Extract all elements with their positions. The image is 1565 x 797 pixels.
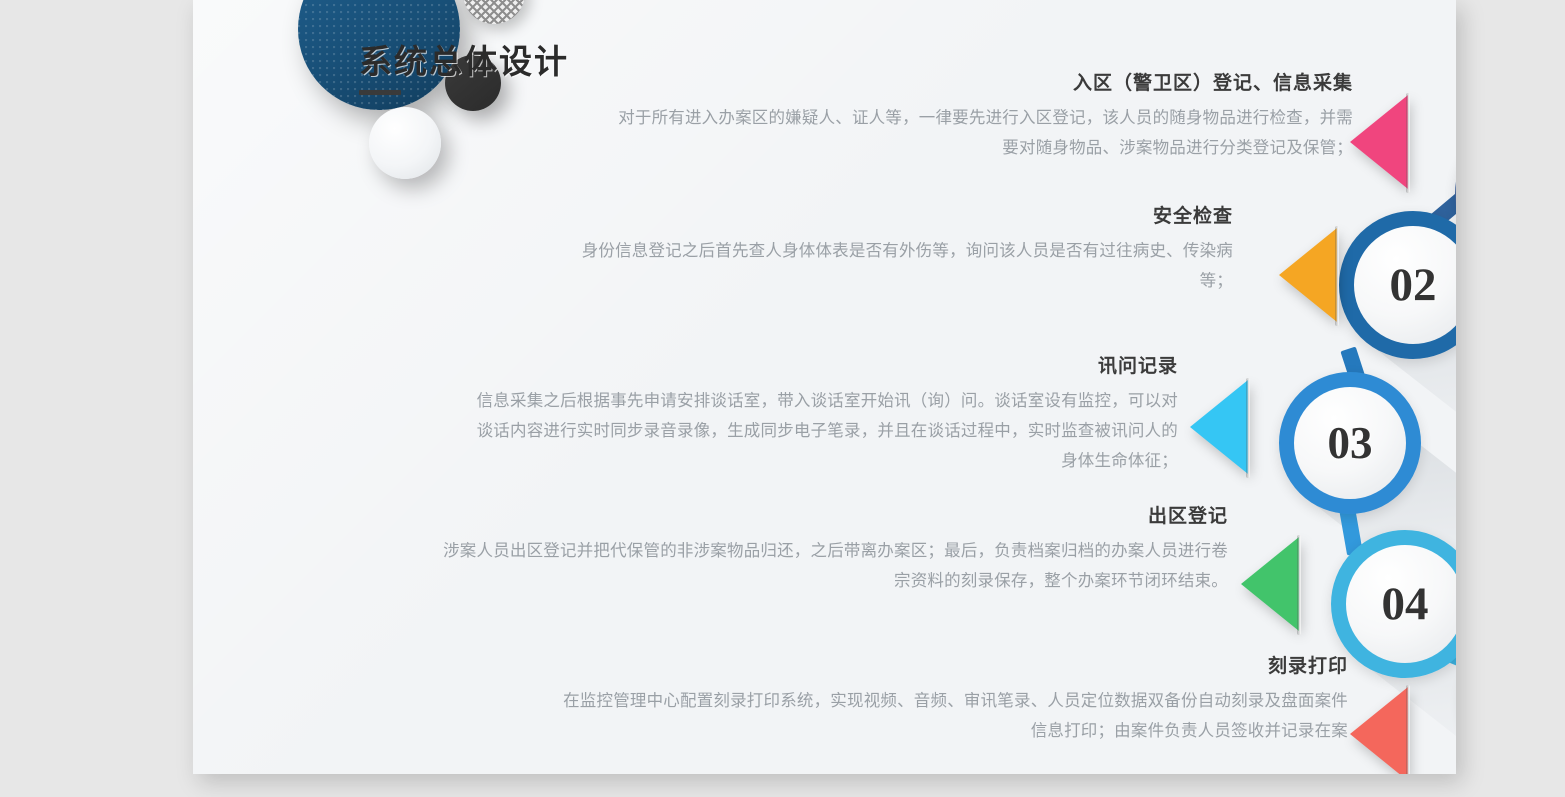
step-block-02: 安全检查 身份信息登记之后首先查人身体体表是否有外伤等，询问该人员是否有过往病史… [553, 205, 1233, 296]
triangle-left-icon [1241, 537, 1299, 631]
step-body-01: 对于所有进入办案区的嫌疑人、证人等，一律要先进行入区登记，该人员的随身物品进行检… [613, 103, 1353, 163]
marker-edge [1335, 226, 1339, 326]
title-underline [359, 90, 401, 95]
step-block-03: 讯问记录 信息采集之后根据事先申请安排谈话室，带入谈话室开始讯（询）问。谈话室设… [463, 355, 1178, 476]
step-number-04: 04 [1382, 581, 1429, 628]
arrow-marker-04 [1241, 537, 1305, 631]
marker-edge [1297, 535, 1301, 635]
presentation-stage: 系统总体设计 01 02 03 [0, 0, 1565, 797]
step-heading-05: 刻录打印 [553, 655, 1348, 680]
marker-edge [1406, 93, 1410, 193]
marker-edge [1246, 378, 1250, 478]
step-block-04: 出区登记 涉案人员出区登记并把代保管的非涉案物品归还，之后带离办案区；最后，负责… [443, 505, 1228, 596]
step-heading-03: 讯问记录 [463, 355, 1178, 380]
step-body-05: 在监控管理中心配置刻录打印系统，实现视频、音频、审讯笔录、人员定位数据双备份自动… [553, 686, 1348, 746]
step-heading-04: 出区登记 [443, 505, 1228, 530]
arrow-marker-03 [1190, 380, 1254, 474]
triangle-left-icon [1350, 95, 1408, 189]
step-node-02[interactable]: 02 [1339, 211, 1456, 359]
step-body-02: 身份信息登记之后首先查人身体体表是否有外伤等，询问该人员是否有过往病史、传染病等… [553, 236, 1233, 296]
marker-edge [1406, 685, 1410, 774]
triangle-left-icon [1190, 380, 1248, 474]
step-number-02: 02 [1390, 262, 1437, 309]
step-body-04: 涉案人员出区登记并把代保管的非涉案物品归还，之后带离办案区；最后，负责档案归档的… [443, 536, 1228, 596]
step-block-01: 入区（警卫区）登记、信息采集 对于所有进入办案区的嫌疑人、证人等，一律要先进行入… [613, 72, 1353, 163]
triangle-left-icon [1350, 687, 1408, 774]
step-heading-01: 入区（警卫区）登记、信息采集 [613, 72, 1353, 97]
triangle-left-icon [1279, 228, 1337, 322]
title-block: 系统总体设计 [359, 42, 569, 95]
step-node-03[interactable]: 03 [1279, 372, 1421, 514]
step-heading-02: 安全检查 [553, 205, 1233, 230]
arrow-marker-05 [1350, 687, 1414, 774]
page-title: 系统总体设计 [359, 42, 569, 82]
arrow-marker-02 [1279, 228, 1343, 322]
arrow-marker-01 [1350, 95, 1414, 189]
step-number-03: 03 [1328, 421, 1373, 466]
step-body-03: 信息采集之后根据事先申请安排谈话室，带入谈话室开始讯（询）问。谈话室设有监控，可… [463, 386, 1178, 476]
step-block-05: 刻录打印 在监控管理中心配置刻录打印系统，实现视频、音频、审讯笔录、人员定位数据… [553, 655, 1348, 746]
slide-canvas: 系统总体设计 01 02 03 [193, 0, 1456, 774]
